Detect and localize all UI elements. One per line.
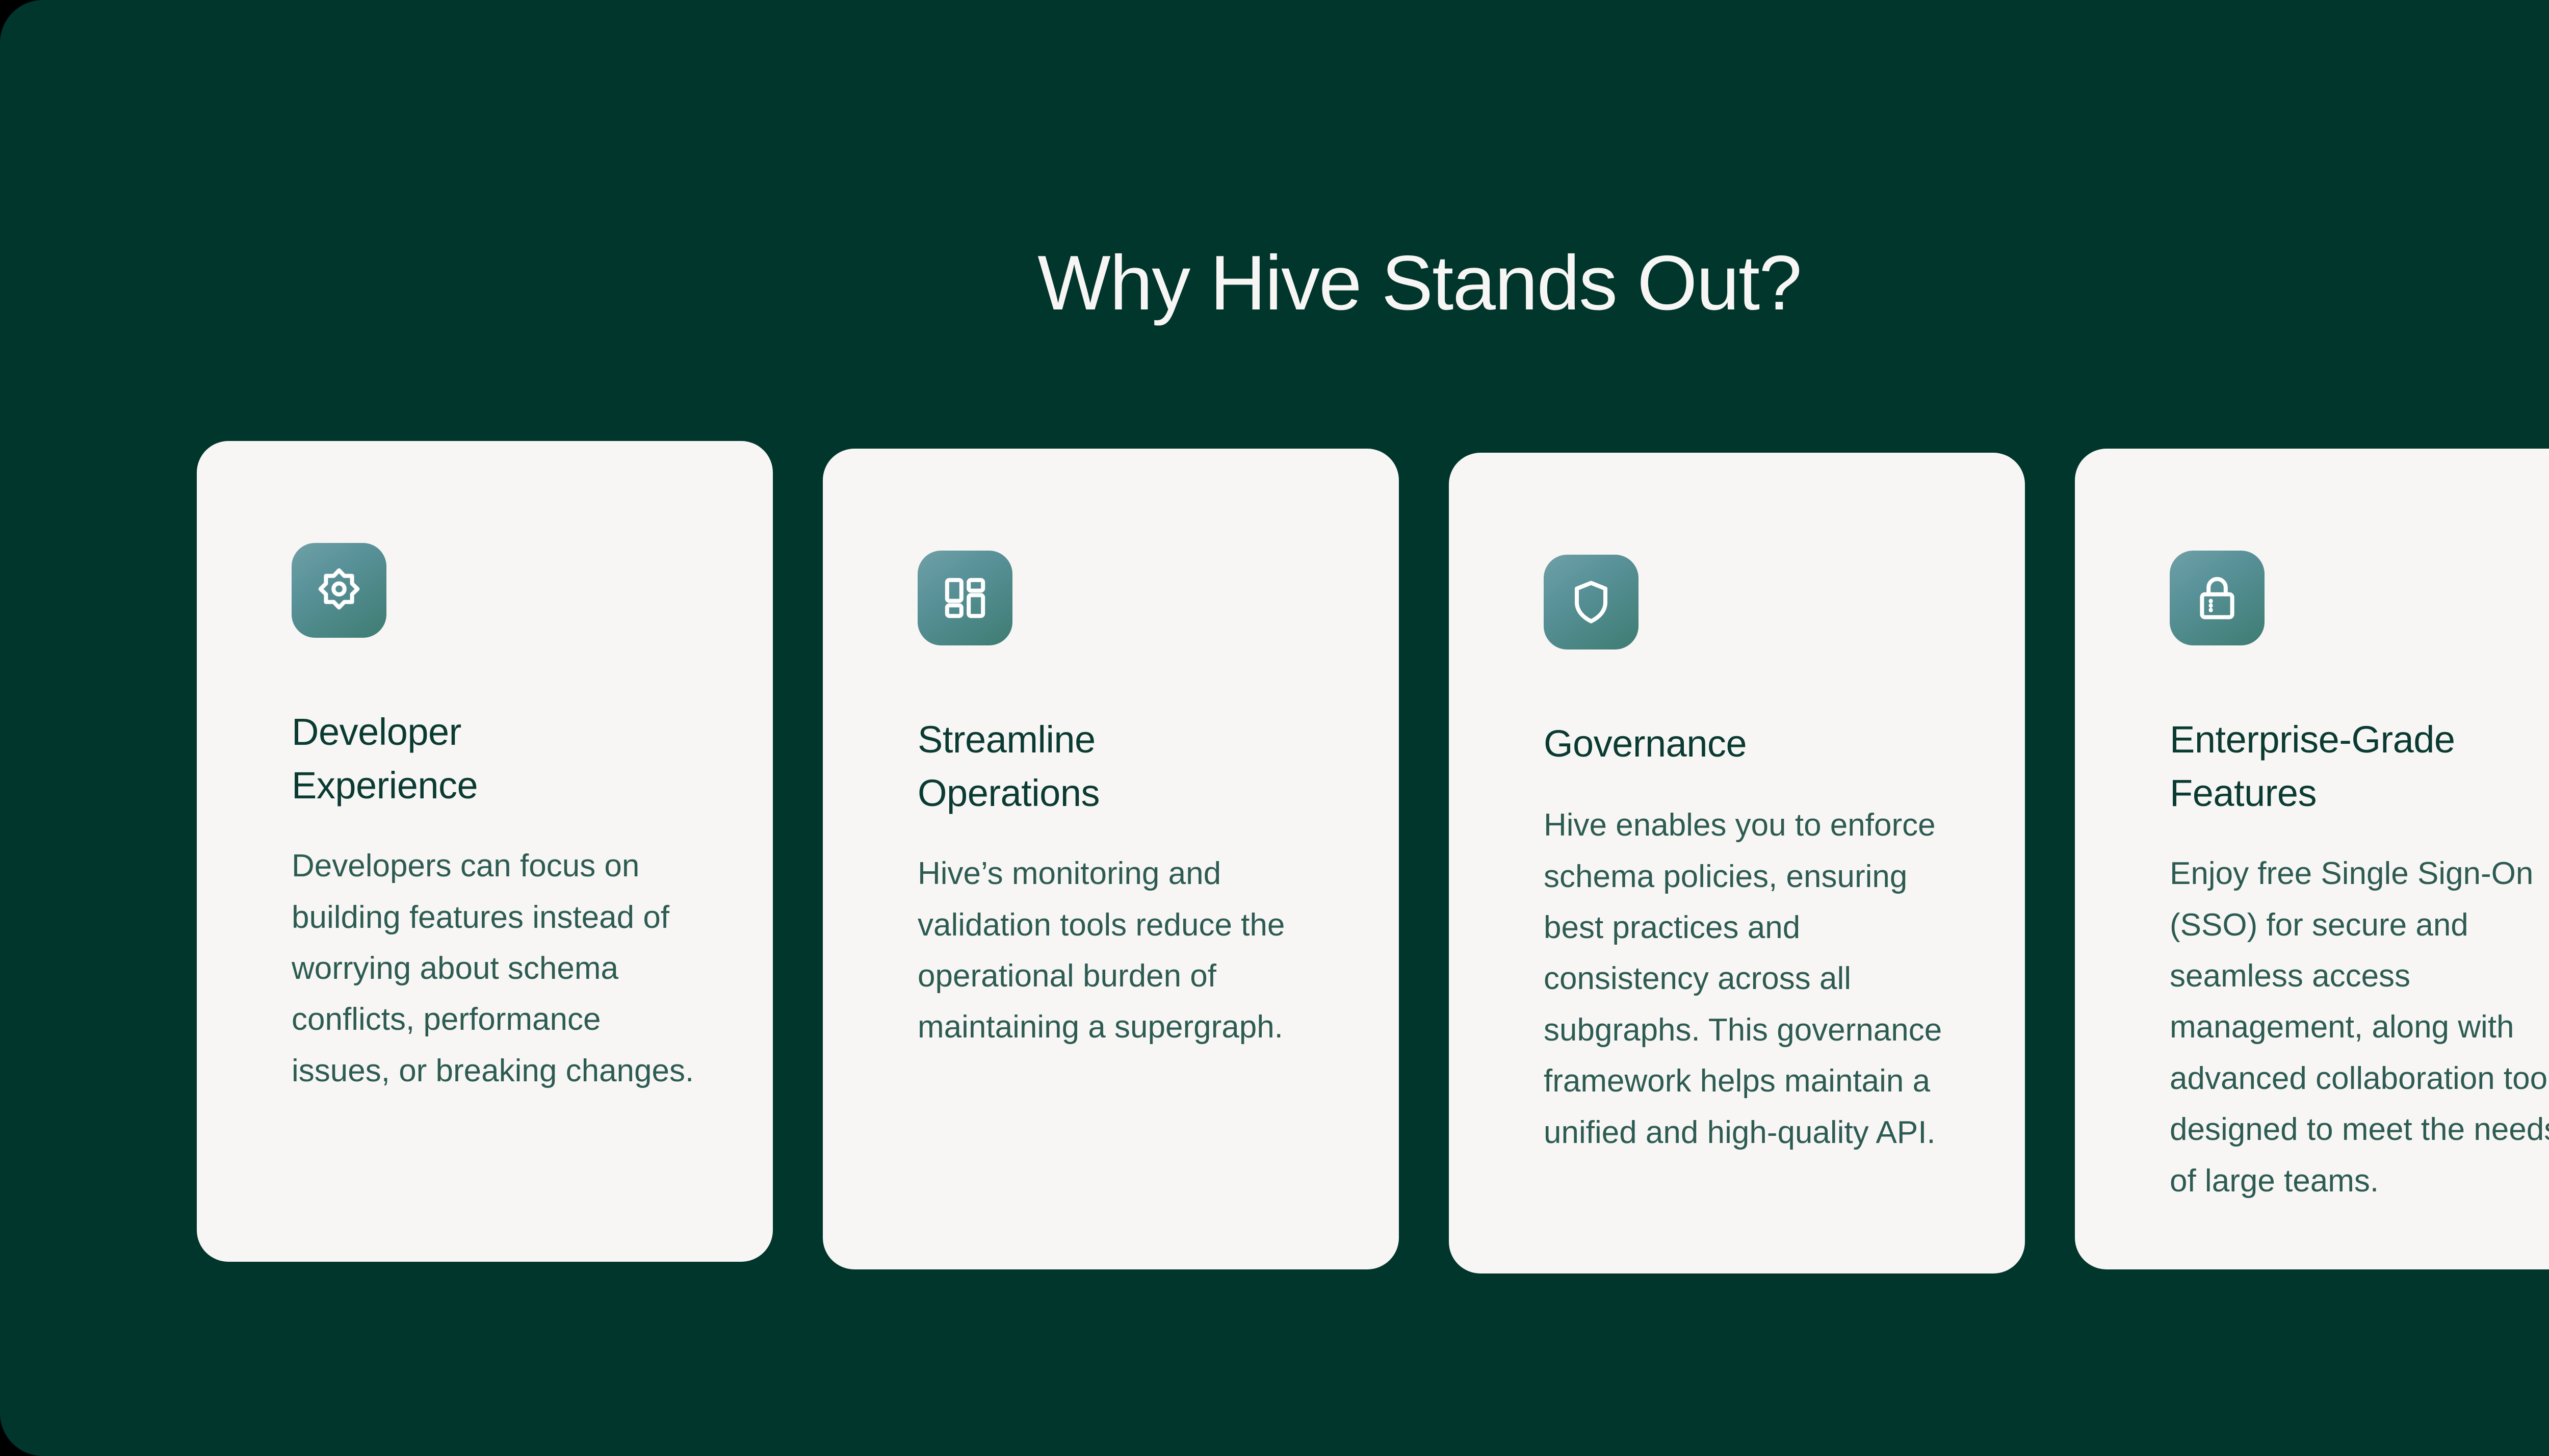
feature-card-title: Governance <box>1544 717 1952 770</box>
feature-card-grid: Developer Experience Developers can focu… <box>197 438 2549 1305</box>
feature-card-body: Developers can focus on building feature… <box>292 841 706 1097</box>
feature-card-title: Streamline Operations <box>918 713 1325 820</box>
gear-star-icon <box>292 543 386 638</box>
feature-card[interactable]: Governance Hive enables you to enforce s… <box>1449 453 2025 1273</box>
page-title: Why Hive Stands Out? <box>0 241 2549 326</box>
lock-icon <box>2170 551 2265 645</box>
feature-card[interactable]: Developer Experience Developers can focu… <box>197 441 773 1262</box>
feature-card-body: Hive’s monitoring and validation tools r… <box>918 848 1332 1053</box>
feature-card[interactable]: Streamline Operations Hive’s monitoring … <box>823 449 1399 1269</box>
shield-icon <box>1544 555 1638 649</box>
feature-card-title: Developer Experience <box>292 705 699 812</box>
feature-card-body: Hive enables you to enforce schema polic… <box>1544 800 1958 1158</box>
layout-grid-icon <box>918 551 1012 645</box>
feature-card-title: Enterprise-Grade Features <box>2170 713 2549 820</box>
feature-card[interactable]: Enterprise-Grade Features Enjoy free Sin… <box>2075 449 2549 1269</box>
page-container: Why Hive Stands Out? Developer Experienc… <box>0 0 2549 1456</box>
feature-card-body: Enjoy free Single Sign-On (SSO) for secu… <box>2170 848 2549 1207</box>
